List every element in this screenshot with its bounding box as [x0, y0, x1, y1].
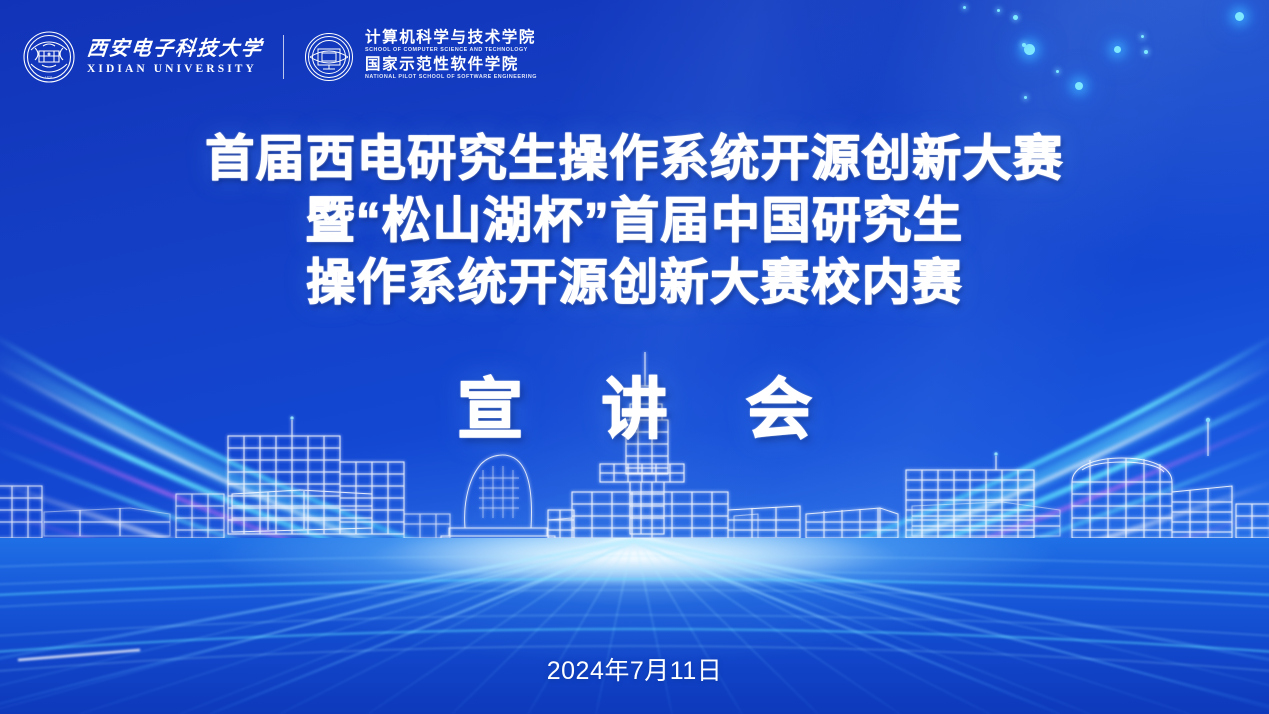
bokeh-dot: [1013, 15, 1018, 20]
bokeh-dot: [963, 6, 966, 9]
bokeh-dot: [997, 9, 1000, 12]
logo-divider: [283, 35, 284, 79]
event-subtitle-wrap: 宣 讲 会: [0, 372, 1269, 446]
bokeh-dot: [1024, 44, 1035, 55]
school-name-line2-cn: 国家示范性软件学院: [365, 57, 537, 74]
event-subtitle: 宣 讲 会: [0, 372, 1269, 446]
event-title-line-1: 首届西电研究生操作系统开源创新大赛: [0, 128, 1269, 190]
event-title-line-2: 暨“松山湖杯”首届中国研究生: [0, 190, 1269, 252]
event-title-line-3: 操作系统开源创新大赛校内赛: [0, 252, 1269, 314]
bokeh-dot: [1022, 43, 1026, 47]
bokeh-dot: [1056, 70, 1059, 73]
bokeh-dot: [1075, 82, 1083, 90]
header-logo-bar: 1931 西安电子科技大学 XIDIAN UNIVERSITY 计算机科学与技术…: [22, 30, 537, 84]
event-backdrop-poster: 1931 西安电子科技大学 XIDIAN UNIVERSITY 计算机科学与技术…: [0, 0, 1269, 714]
bokeh-dot: [1114, 46, 1121, 53]
svg-text:1931: 1931: [45, 75, 53, 79]
school-name-line1-cn: 计算机科学与技术学院: [365, 30, 537, 47]
perspective-grid-ground-icon: [0, 538, 1269, 714]
horizon-glow: [0, 538, 1269, 584]
background-sheen: [0, 0, 1269, 714]
bokeh-dot: [1235, 12, 1244, 21]
event-title: 首届西电研究生操作系统开源创新大赛 暨“松山湖杯”首届中国研究生 操作系统开源创…: [0, 128, 1269, 314]
bokeh-dot: [1141, 35, 1144, 38]
school-name-line1-en: SCHOOL OF COMPUTER SCIENCE AND TECHNOLOG…: [365, 48, 537, 54]
university-name-block: 西安电子科技大学 XIDIAN UNIVERSITY: [87, 39, 263, 75]
school-of-computer-science-crest-icon: [304, 32, 354, 82]
xidian-university-crest-icon: 1931: [22, 30, 76, 84]
bokeh-dot: [1144, 50, 1148, 54]
event-date: 2024年7月11日: [0, 651, 1269, 687]
school-name-block: 计算机科学与技术学院 SCHOOL OF COMPUTER SCIENCE AN…: [365, 30, 537, 83]
school-name-line2-en: NATIONAL PILOT SCHOOL OF SOFTWARE ENGINE…: [365, 75, 537, 81]
bokeh-dot: [1024, 96, 1027, 99]
university-name-cn: 西安电子科技大学: [86, 39, 264, 59]
university-name-en: XIDIAN UNIVERSITY: [87, 63, 263, 75]
